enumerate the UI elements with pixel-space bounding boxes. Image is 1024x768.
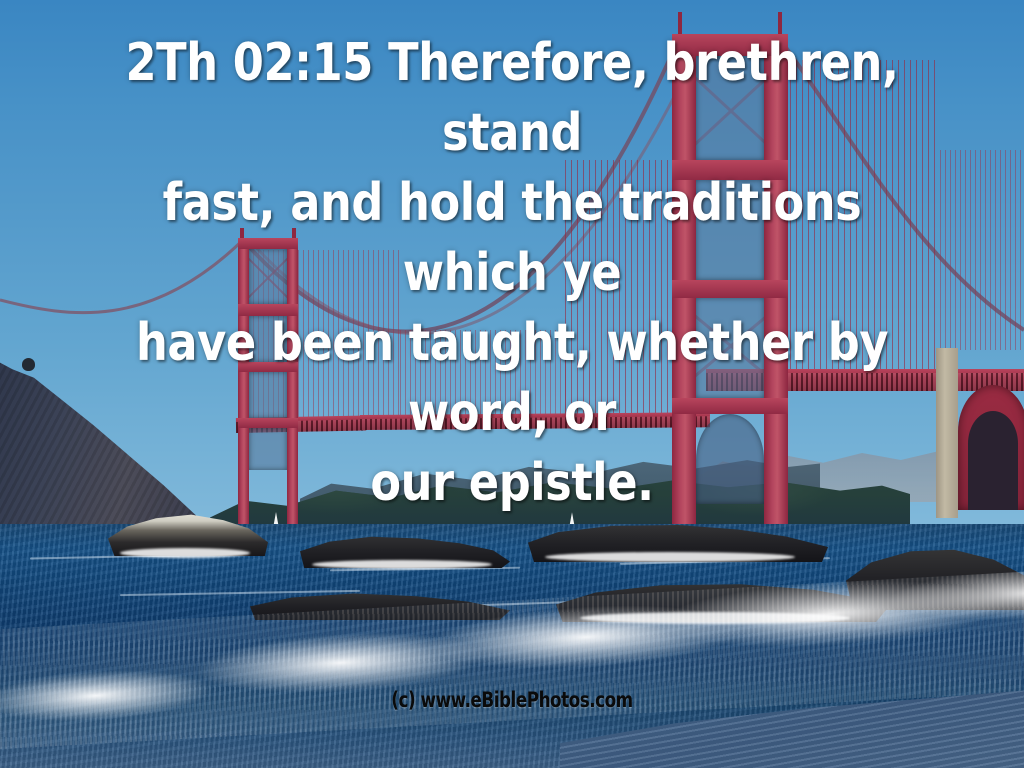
suspender-cables-far-right [940,150,1024,350]
verse-image: 2Th 02:15 Therefore, brethren, stand fas… [0,0,1024,768]
rock-foam [312,560,492,569]
fort-point-arch [958,385,1024,510]
concrete-pylon [936,348,958,518]
watermark-text: (c) www.eBiblePhotos.com [102,688,921,712]
verse-text: 2Th 02:15 Therefore, brethren, stand fas… [96,28,928,518]
rock-foam [120,548,250,558]
rock-foam [545,552,795,562]
